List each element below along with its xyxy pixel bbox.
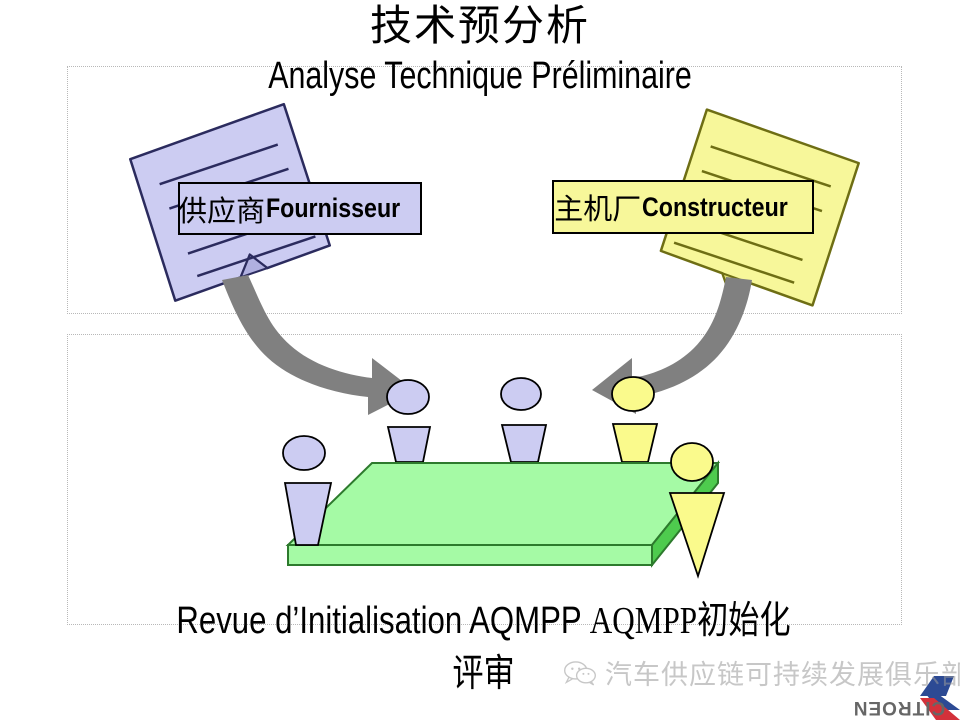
meeting-table (288, 463, 718, 565)
oem-label-french: Constructeur (642, 192, 788, 223)
caption-line-1: Revue d’Initialisation AQMPP AQMPP初始化 (142, 595, 825, 648)
page-title: 技术预分析 Analyse Technique Préliminaire (0, 2, 960, 100)
wechat-icon (563, 660, 597, 686)
supplier-label-french: Fournisseur (266, 193, 400, 224)
supplier-to-meeting-arrow (222, 275, 415, 415)
oem-label-box: 主机厂Constructeur (552, 180, 814, 234)
table-front-face (288, 545, 652, 565)
person-supplier-2 (501, 378, 546, 462)
oem-label-chinese: 主机厂 (554, 186, 641, 228)
supplier-label-box: 供应商Fournisseur (178, 182, 422, 235)
person-supplier-1 (387, 380, 430, 462)
caption-chinese-1: AQMPP初始化 (590, 600, 791, 642)
title-french: Analyse Technique Préliminaire (96, 52, 864, 100)
title-chinese: 技术预分析 (0, 2, 960, 52)
citroen-wordmark: CITROEN (838, 696, 960, 718)
watermark: 汽车供应链可持续发展俱乐部 (563, 653, 960, 692)
meeting-people-back (387, 377, 657, 462)
person-oem-1 (612, 377, 657, 462)
slide-canvas: 技术预分析 Analyse Technique Préliminaire (0, 0, 960, 720)
caption-french: Revue d’Initialisation AQMPP (176, 600, 589, 642)
watermark-text: 汽车供应链可持续发展俱乐部 (605, 653, 960, 692)
table-top-face (288, 463, 718, 545)
supplier-label-chinese: 供应商 (178, 188, 265, 230)
